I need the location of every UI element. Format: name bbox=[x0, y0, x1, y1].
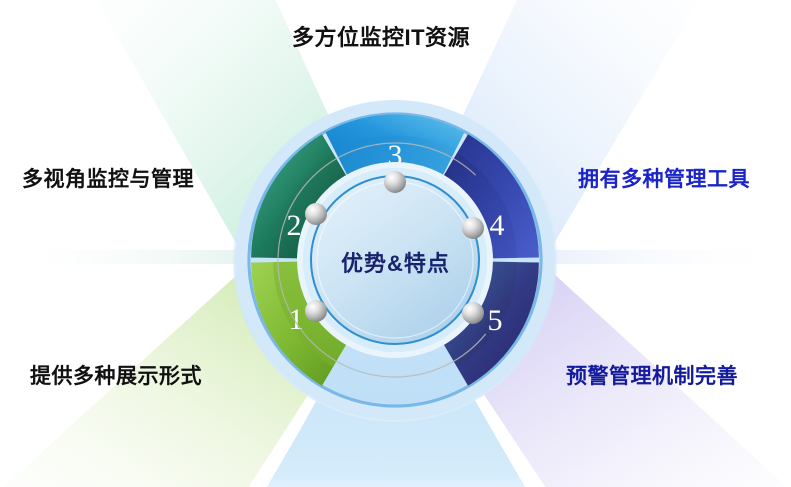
marker-5[interactable] bbox=[462, 302, 484, 324]
marker-3[interactable] bbox=[384, 171, 406, 193]
marker-2-ball bbox=[305, 203, 327, 225]
label-left-top: 多视角监控与管理 bbox=[22, 169, 194, 190]
wheel-graphic: 1 2 3 4 5 bbox=[0, 0, 791, 487]
marker-3-ball bbox=[384, 171, 406, 193]
marker-4[interactable] bbox=[462, 217, 484, 239]
label-right-bottom: 预警管理机制完善 bbox=[566, 366, 738, 387]
marker-1-ball bbox=[305, 300, 327, 322]
center-disc bbox=[311, 176, 479, 344]
diagram-canvas: 1 2 3 4 5 bbox=[0, 0, 791, 487]
marker-2[interactable] bbox=[305, 203, 327, 225]
segment-2-number: 2 bbox=[287, 209, 302, 242]
segment-5-number: 5 bbox=[488, 304, 503, 337]
marker-4-ball bbox=[462, 217, 484, 239]
segment-4-number: 4 bbox=[490, 209, 505, 242]
label-top: 多方位监控IT资源 bbox=[292, 27, 470, 49]
marker-5-ball bbox=[462, 302, 484, 324]
label-left-bottom: 提供多种展示形式 bbox=[30, 366, 202, 387]
label-right-top: 拥有多种管理工具 bbox=[578, 169, 750, 190]
marker-1[interactable] bbox=[305, 300, 327, 322]
